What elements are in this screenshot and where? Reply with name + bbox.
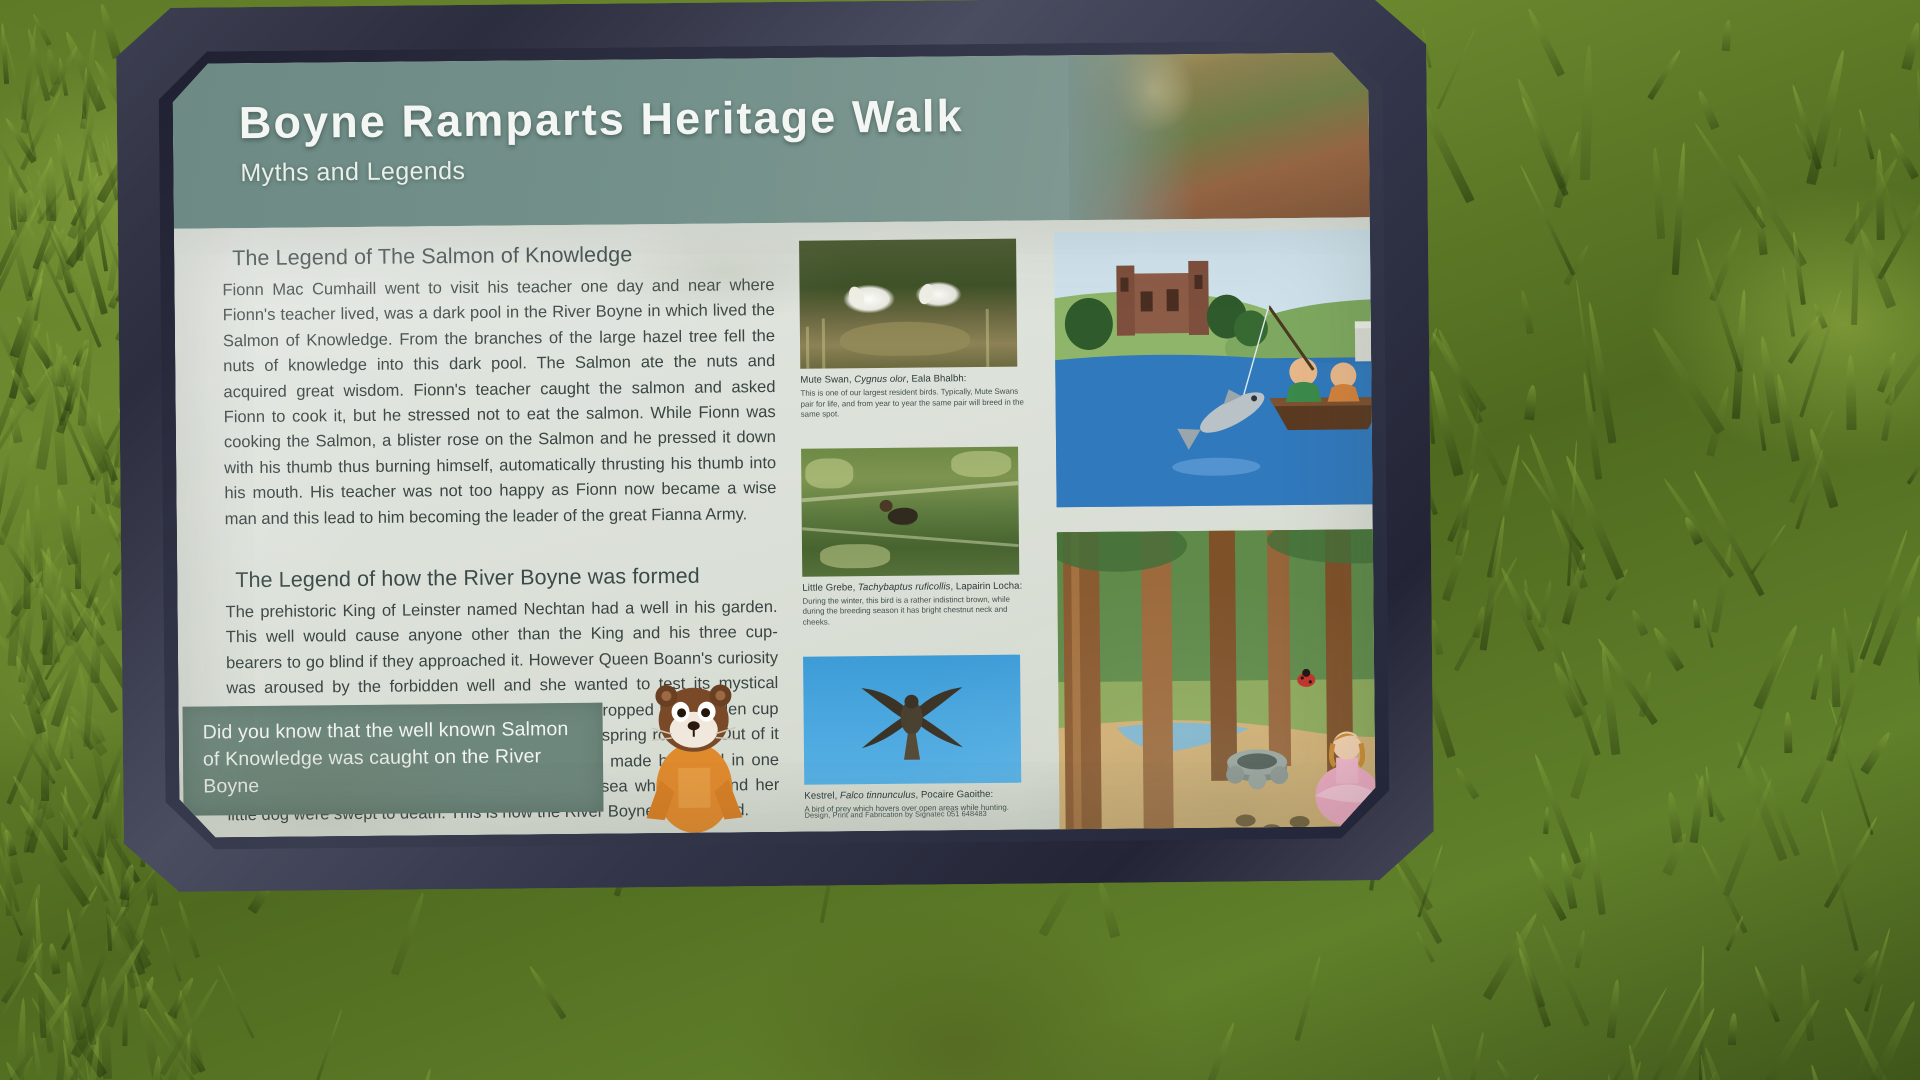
sign-subtitle: Myths and Legends [240, 157, 465, 188]
grebe-caption-title: Little Grebe, Tachybaptus ruficollis, La… [802, 580, 1032, 593]
photo-block-swan: Mute Swan, Cygnus olor, Eala Bhalbh: Thi… [799, 239, 1031, 421]
did-you-know-callout: Did you know that the well known Salmon … [182, 703, 603, 816]
sign-header-band: Boyne Ramparts Heritage Walk Myths and L… [172, 52, 1370, 228]
little-grebe-photo [801, 446, 1019, 576]
section-body-salmon: Fionn Mac Cumhaill went to visit his tea… [214, 273, 776, 532]
photo-column: Mute Swan, Cygnus olor, Eala Bhalbh: Thi… [799, 239, 1035, 838]
kestrel-caption-title: Kestrel, Falco tinnunculus, Pocaire Gaoi… [804, 788, 1034, 801]
header-landscape-photo [1068, 52, 1370, 220]
sign-body: The Legend of The Salmon of Knowledge Fi… [174, 217, 1376, 837]
section-heading-salmon: The Legend of The Salmon of Knowledge [232, 241, 774, 271]
section-heading-boyne: The Legend of how the River Boyne was fo… [235, 563, 777, 593]
photo-block-grebe: Little Grebe, Tachybaptus ruficollis, La… [801, 446, 1033, 628]
forest-well-princess-illustration [1057, 528, 1376, 837]
swan-caption-body: This is one of our largest resident bird… [800, 387, 1030, 421]
grebe-caption-body: During the winter, this bird is a rather… [802, 594, 1032, 628]
sign-title: Boyne Ramparts Heritage Walk [239, 90, 964, 149]
mute-swan-photo [799, 239, 1017, 369]
design-credit: Design, Print and Fabrication by Signate… [805, 809, 987, 820]
illustration-column [1054, 228, 1376, 837]
photo-block-kestrel: Kestrel, Falco tinnunculus, Pocaire Gaoi… [803, 654, 1035, 815]
interpretive-sign: Boyne Ramparts Heritage Walk Myths and L… [116, 0, 1434, 892]
otter-mascot-illustration [633, 667, 755, 833]
photo-of-interpretive-sign-in-grass: Boyne Ramparts Heritage Walk Myths and L… [0, 0, 1920, 1080]
swan-caption-title: Mute Swan, Cygnus olor, Eala Bhalbh: [800, 373, 1030, 386]
fishing-boat-castle-illustration [1054, 228, 1376, 507]
sign-panel: Boyne Ramparts Heritage Walk Myths and L… [172, 52, 1375, 837]
kestrel-photo [803, 654, 1021, 784]
